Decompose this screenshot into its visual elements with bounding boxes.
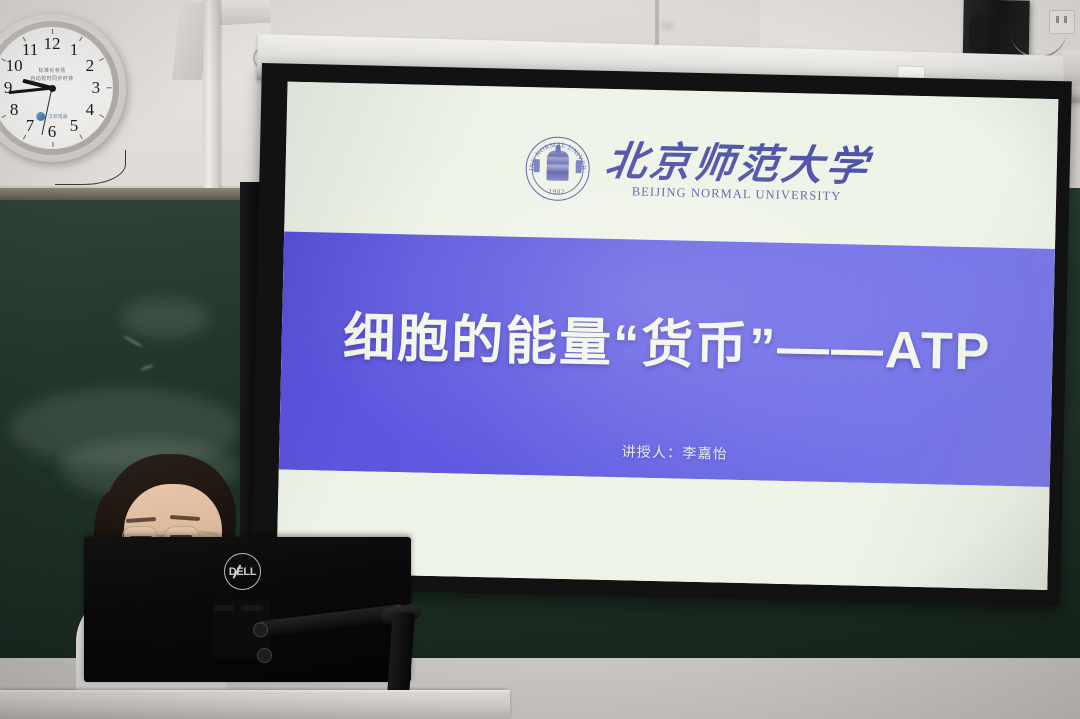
clock-tick: [1, 114, 6, 118]
clock-number: 6: [48, 122, 57, 142]
slide-header: BEIJING NORMAL UNIVERSITY 1902 北京师范大学 BE…: [284, 82, 1058, 250]
clock-number: 12: [44, 34, 61, 54]
clock-tick: [79, 37, 83, 42]
slide-title: 细胞的能量“货币”——ATP: [343, 312, 992, 379]
desk-surface: [0, 690, 510, 719]
emblem-bell-motif: [546, 151, 569, 181]
blackboard-top-frame: [0, 188, 240, 200]
clock-tick: [99, 114, 104, 118]
dell-logo-slash: [232, 564, 240, 578]
clock-number: 4: [86, 100, 95, 120]
dell-logo-icon: DELL: [224, 553, 261, 590]
clock-brand-text: 汉邦电器: [48, 114, 68, 120]
presentation-slide: BEIJING NORMAL UNIVERSITY 1902 北京师范大学 BE…: [276, 82, 1058, 590]
clock-tick: [52, 142, 53, 147]
chalk-mark: [140, 364, 154, 372]
clock-number: 1: [70, 40, 79, 60]
emblem-side-motif-left: [533, 159, 539, 172]
dell-logo-text: DELL: [229, 566, 257, 578]
clock-tick: [107, 87, 112, 88]
clock-number: 2: [86, 56, 95, 76]
monitor-vent: [242, 605, 262, 611]
clock-center-pin: [49, 85, 56, 92]
classroom-scene: BEIJING NORMAL UNIVERSITY 1902 北京师范大学 BE…: [0, 0, 1080, 719]
clock-brand: 汉邦电器: [36, 112, 68, 121]
clock-number: 8: [10, 100, 19, 120]
clock-number: 10: [6, 56, 23, 76]
speaker-cone: [969, 14, 986, 54]
university-logo: BEIJING NORMAL UNIVERSITY 1902 北京师范大学 BE…: [524, 136, 869, 208]
clock-number: 3: [92, 78, 101, 98]
screen-rail-bracket-top: [213, 0, 270, 25]
clock-number: 7: [26, 116, 35, 136]
slide-presenter: 讲授人：李嘉怡: [289, 434, 1058, 471]
monitor-arm-post: [387, 611, 415, 696]
chalk-smudge: [120, 298, 210, 338]
desk-front-edge: [0, 690, 510, 694]
clock-tick: [99, 58, 104, 62]
university-wordmark: 北京师范大学 BEIJING NORMAL UNIVERSITY: [605, 141, 870, 205]
wall-smudge: [660, 22, 674, 30]
projector-screen-frame: BEIJING NORMAL UNIVERSITY 1902 北京师范大学 BE…: [250, 63, 1072, 606]
bnu-emblem-icon: BEIJING NORMAL UNIVERSITY 1902: [524, 136, 589, 201]
monitor-arm-lower-joint: [257, 648, 272, 663]
clock-minute-hand: [8, 87, 52, 95]
slide-title-band: 细胞的能量“货币”——ATP 讲授人：李嘉怡: [279, 232, 1055, 487]
emblem-founding-year: 1902: [526, 187, 588, 196]
projector-screen-surface: BEIJING NORMAL UNIVERSITY 1902 北京师范大学 BE…: [276, 82, 1058, 590]
clock-tick: [79, 134, 83, 139]
wordmark-chinese: 北京师范大学: [602, 141, 872, 188]
emblem-side-motif-right: [575, 160, 581, 173]
wall-outlet: [1049, 10, 1075, 34]
monitor-vent: [214, 605, 234, 611]
chalk-mark: [123, 335, 144, 349]
clock-note-line-1: 标准化考场: [30, 68, 73, 76]
clock-number: 9: [4, 78, 13, 98]
clock-number: 11: [22, 40, 38, 60]
clock-number: 5: [70, 116, 79, 136]
